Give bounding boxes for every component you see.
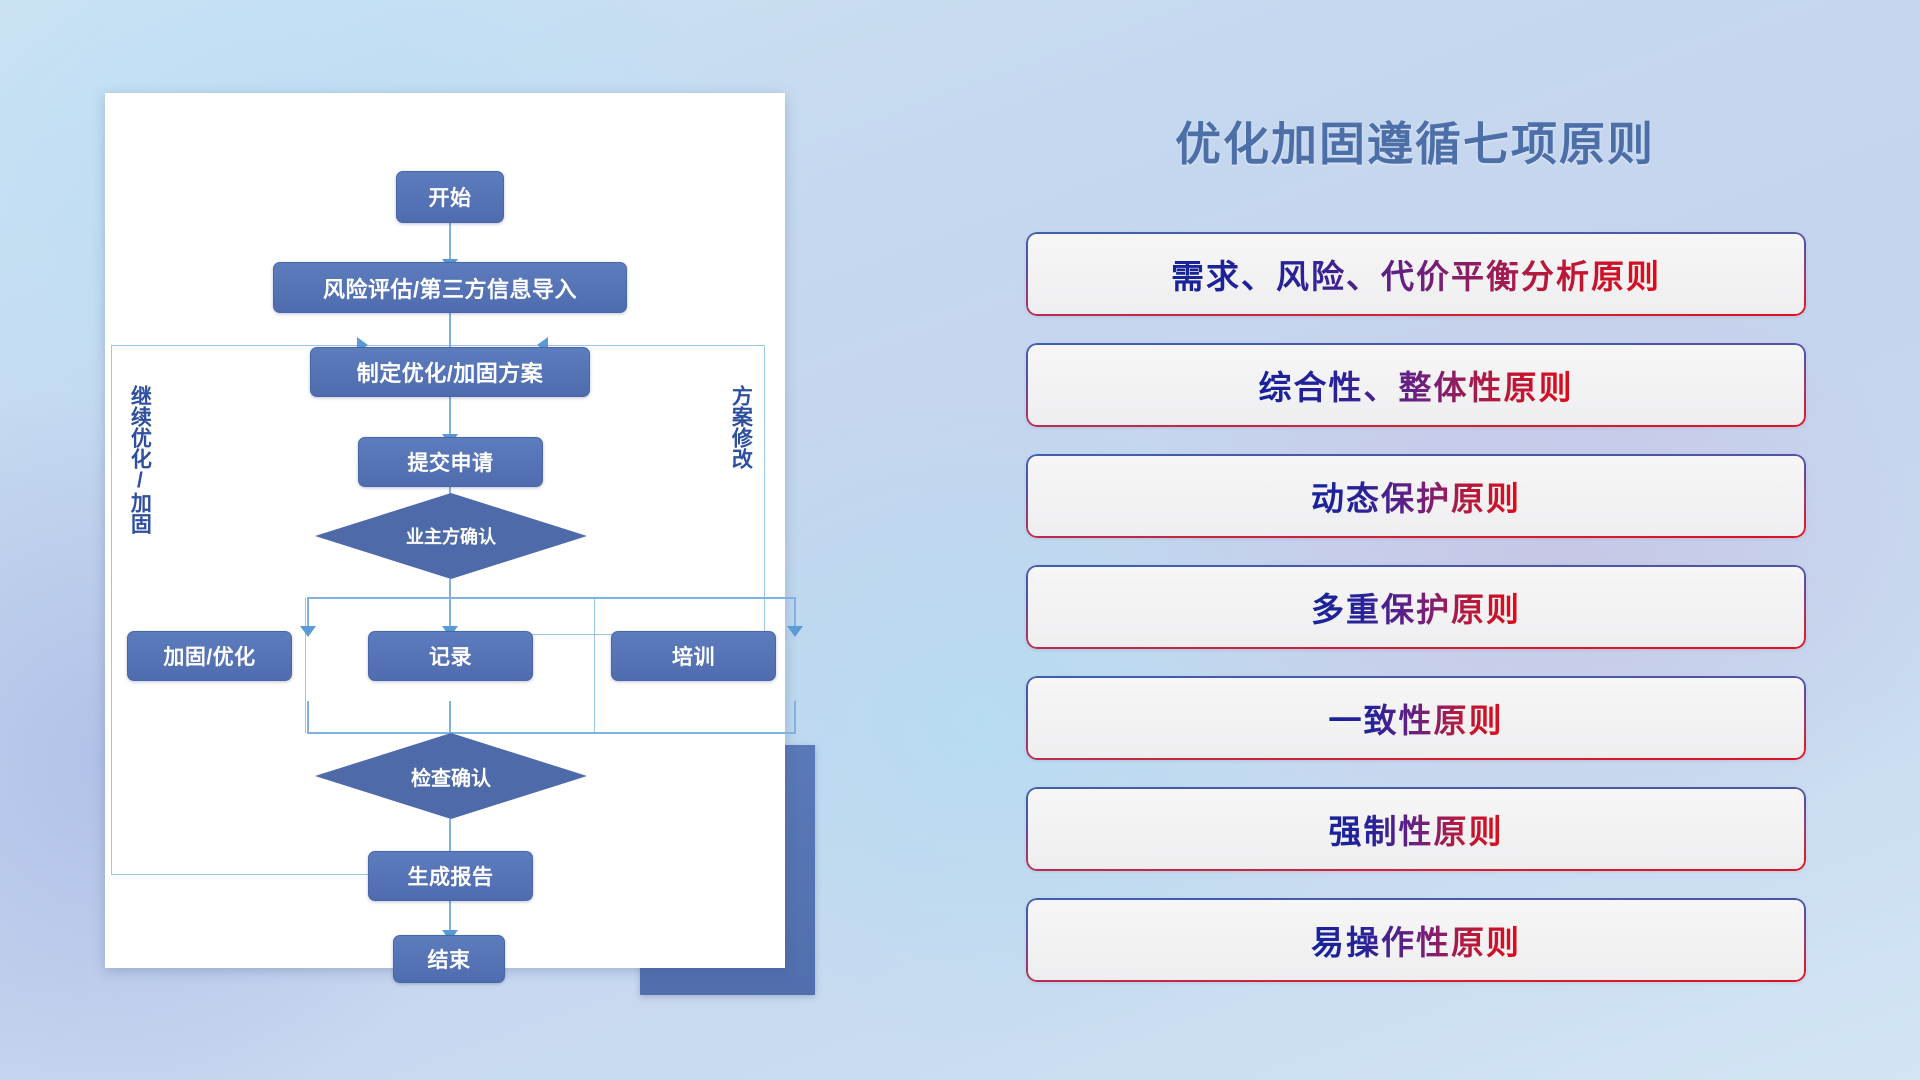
flow-node-risk-assessment-label: 风险评估/第三方信息导入: [323, 272, 577, 304]
branch-arrow-right: [787, 626, 803, 637]
principles-list: 需求、风险、代价平衡分析原则 综合性、整体性原则 动态保护原则 多重保护原则 一…: [1026, 232, 1806, 1009]
principle-item-3[interactable]: 动态保护原则: [1026, 454, 1806, 538]
flow-node-start-label: 开始: [429, 182, 472, 212]
flow-node-training[interactable]: 培训: [611, 631, 776, 681]
branch-arrow-left: [300, 626, 316, 637]
branch-merge-right-rise: [794, 701, 796, 734]
edge-start-to-risk: [449, 223, 451, 263]
principle-item-2[interactable]: 综合性、整体性原则: [1026, 343, 1806, 427]
flow-node-end[interactable]: 结束: [393, 935, 505, 983]
branch-merge-bar: [307, 732, 796, 734]
flow-node-plan[interactable]: 制定优化/加固方案: [310, 347, 590, 397]
principle-label-3: 动态保护原则: [1311, 472, 1521, 520]
right-loop-label: 方案修改: [730, 385, 751, 469]
flow-node-report[interactable]: 生成报告: [368, 851, 533, 901]
principle-label-6: 强制性原则: [1329, 805, 1504, 853]
principle-item-7[interactable]: 易操作性原则: [1026, 898, 1806, 982]
branch-split-bar: [307, 597, 796, 599]
principle-label-7: 易操作性原则: [1311, 916, 1521, 964]
flow-node-end-label: 结束: [428, 944, 471, 974]
edge-plan-to-submit: [449, 397, 451, 438]
flow-node-risk-assessment[interactable]: 风险评估/第三方信息导入: [273, 262, 627, 313]
flow-node-record[interactable]: 记录: [368, 631, 533, 681]
principle-label-5: 一致性原则: [1329, 694, 1504, 742]
flow-node-submit[interactable]: 提交申请: [358, 437, 543, 487]
flowchart-card: 继续优化/加固 方案修改 开始 风险评估/第三方信息导入 制定优化/加固方案 提…: [105, 93, 785, 968]
principle-label-4: 多重保护原则: [1311, 583, 1521, 631]
flow-node-report-label: 生成报告: [408, 861, 494, 891]
flow-node-reinforce[interactable]: 加固/优化: [127, 631, 292, 681]
edge-owner-to-record: [449, 579, 451, 631]
flow-node-owner-confirm-label: 业主方确认: [406, 523, 496, 549]
branch-merge-left-rise: [307, 701, 309, 734]
flow-node-plan-label: 制定优化/加固方案: [357, 356, 544, 388]
page-title: 优化加固遵循七项原则: [1025, 108, 1805, 174]
flow-node-check-confirm-label: 检查确认: [411, 762, 491, 791]
slide-canvas: 继续优化/加固 方案修改 开始 风险评估/第三方信息导入 制定优化/加固方案 提…: [0, 0, 1920, 1080]
left-loop-label: 继续优化/加固: [129, 385, 150, 534]
principle-item-5[interactable]: 一致性原则: [1026, 676, 1806, 760]
principle-label-1: 需求、风险、代价平衡分析原则: [1171, 250, 1661, 298]
principle-item-6[interactable]: 强制性原则: [1026, 787, 1806, 871]
flow-node-submit-label: 提交申请: [408, 447, 494, 477]
flow-node-record-label: 记录: [429, 641, 472, 671]
principle-label-2: 综合性、整体性原则: [1259, 361, 1574, 409]
flow-node-reinforce-label: 加固/优化: [163, 641, 255, 671]
principle-item-4[interactable]: 多重保护原则: [1026, 565, 1806, 649]
flow-node-start[interactable]: 开始: [396, 171, 504, 223]
principle-item-1[interactable]: 需求、风险、代价平衡分析原则: [1026, 232, 1806, 316]
flow-node-training-label: 培训: [672, 641, 715, 671]
